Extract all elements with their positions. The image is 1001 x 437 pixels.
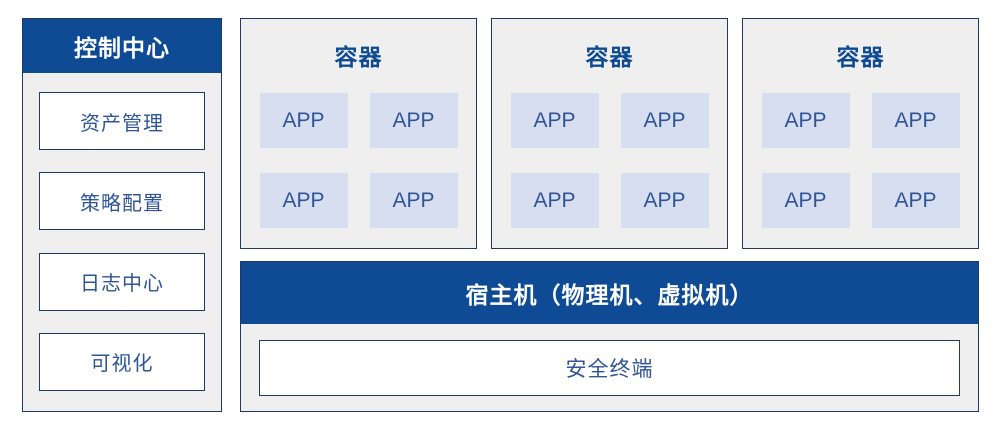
host-machine-title: 宿主机（物理机、虚拟机）: [241, 262, 978, 324]
app-label: APP: [643, 189, 685, 213]
app-grid: APP APP APP APP: [762, 93, 960, 228]
container-title: 容器: [335, 38, 383, 72]
control-center-item-log-center[interactable]: 日志中心: [39, 253, 205, 311]
app-grid: APP APP APP APP: [260, 93, 458, 228]
control-center-item-asset-management[interactable]: 资产管理: [39, 92, 205, 150]
container-title: 容器: [586, 38, 634, 72]
control-center-item-label: 资产管理: [80, 107, 164, 136]
container-title: 容器: [837, 38, 885, 72]
app-box[interactable]: APP: [621, 173, 709, 228]
app-label: APP: [533, 189, 575, 213]
app-box[interactable]: APP: [872, 173, 960, 228]
app-label: APP: [282, 189, 324, 213]
app-label: APP: [533, 109, 575, 133]
control-center-item-label: 策略配置: [80, 187, 164, 216]
host-machine-body: 安全终端: [241, 324, 978, 411]
control-center-item-list: 资产管理 策略配置 日志中心 可视化: [23, 73, 221, 411]
control-center-title: 控制中心: [23, 19, 221, 73]
app-label: APP: [643, 109, 685, 133]
app-label: APP: [282, 109, 324, 133]
app-label: APP: [784, 189, 826, 213]
container-panel-1: 容器 APP APP APP APP: [240, 18, 477, 249]
container-panel-2: 容器 APP APP APP APP: [491, 18, 728, 249]
app-label: APP: [894, 109, 936, 133]
container-panel-3: 容器 APP APP APP APP: [742, 18, 979, 249]
app-box[interactable]: APP: [872, 93, 960, 148]
app-grid: APP APP APP APP: [511, 93, 709, 228]
app-box[interactable]: APP: [762, 93, 850, 148]
app-label: APP: [392, 109, 434, 133]
control-center-panel: 控制中心 资产管理 策略配置 日志中心 可视化: [22, 18, 222, 412]
app-box[interactable]: APP: [511, 173, 599, 228]
secure-terminal-box[interactable]: 安全终端: [259, 340, 960, 396]
app-box[interactable]: APP: [260, 173, 348, 228]
app-box[interactable]: APP: [762, 173, 850, 228]
app-box[interactable]: APP: [260, 93, 348, 148]
control-center-item-visualization[interactable]: 可视化: [39, 333, 205, 391]
app-label: APP: [894, 189, 936, 213]
secure-terminal-label: 安全终端: [566, 353, 654, 383]
control-center-item-policy-configuration[interactable]: 策略配置: [39, 172, 205, 230]
app-box[interactable]: APP: [370, 173, 458, 228]
control-center-item-label: 可视化: [91, 347, 154, 376]
app-box[interactable]: APP: [621, 93, 709, 148]
app-label: APP: [784, 109, 826, 133]
app-label: APP: [392, 189, 434, 213]
host-machine-panel: 宿主机（物理机、虚拟机） 安全终端: [240, 261, 979, 412]
containers-row: 容器 APP APP APP APP 容器 APP: [240, 18, 979, 249]
architecture-diagram: 控制中心 资产管理 策略配置 日志中心 可视化 容器 APP: [0, 0, 1001, 437]
control-center-item-label: 日志中心: [80, 267, 164, 296]
app-box[interactable]: APP: [511, 93, 599, 148]
app-box[interactable]: APP: [370, 93, 458, 148]
